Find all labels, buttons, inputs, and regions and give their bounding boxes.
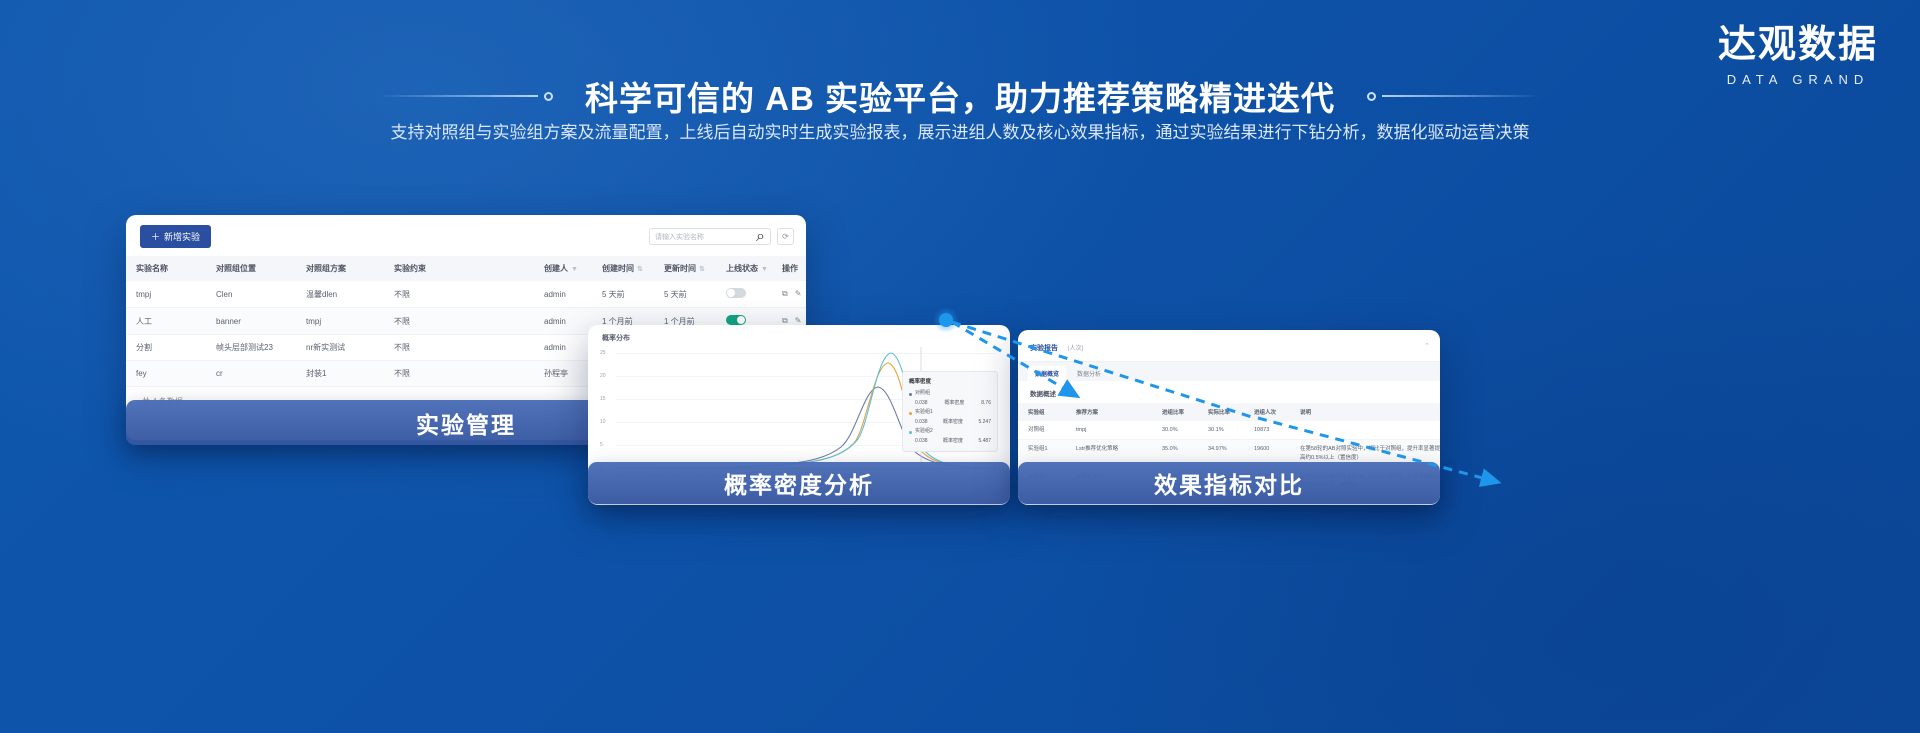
cell-creator: 孙程亭 bbox=[534, 361, 592, 387]
cell-limit: 不限 bbox=[384, 308, 534, 335]
column-header-creator[interactable]: 创建人▼ bbox=[534, 256, 592, 281]
column-header: 对照组位置 bbox=[206, 256, 296, 281]
tooltip-values: 0.038 概率密度 5.247 bbox=[909, 418, 991, 428]
chevron-up-icon[interactable]: ⌃ bbox=[1424, 342, 1430, 350]
column-header: 实际比率 bbox=[1198, 403, 1244, 421]
search-input[interactable]: 请输入实验名称 ⌕ bbox=[649, 228, 771, 245]
report-section-title: 数据概述 bbox=[1018, 381, 1440, 403]
tooltip-values: 0.038 概率密度 8.76 bbox=[909, 399, 991, 409]
cell-plan: 温馨dlen bbox=[296, 281, 384, 308]
tooltip-x: 0.038 bbox=[915, 399, 928, 409]
tab-data-analysis[interactable]: 数据分析 bbox=[1070, 366, 1108, 381]
cell-plan: nr新实测试 bbox=[296, 335, 384, 361]
tooltip-metric: 概率密度 bbox=[943, 437, 963, 447]
hotspot-pulse bbox=[933, 307, 959, 333]
report-title: 实验报告 bbox=[1030, 345, 1058, 352]
cell-position: 帧头层部测试23 bbox=[206, 335, 296, 361]
filter-icon: ▼ bbox=[761, 266, 768, 273]
cell-users: 10873 bbox=[1244, 421, 1290, 440]
plus-icon: ＋ bbox=[151, 230, 160, 243]
y-tick-label: 25 bbox=[600, 350, 606, 356]
title-row: 科学可信的 AB 实验平台，助力推荐策略精进迭代 bbox=[0, 72, 1920, 120]
column-header-created[interactable]: 创建时间⇅ bbox=[592, 256, 654, 281]
table-row[interactable]: tmpj Clen 温馨dlen 不限 admin 5 天前 5 天前 ⧉ ✎ … bbox=[126, 281, 806, 308]
tooltip-metric: 概率密度 bbox=[944, 399, 964, 409]
tooltip-x: 0.038 bbox=[915, 418, 928, 428]
search-placeholder: 请输入实验名称 bbox=[655, 232, 752, 242]
tooltip-value: 5.247 bbox=[978, 418, 991, 428]
chart-tooltip: 概率密度 对照组 0.038 概率密度 8.76 实验组1 0.038 概率密度… bbox=[902, 371, 998, 452]
column-header-updated[interactable]: 更新时间⇅ bbox=[654, 256, 716, 281]
cell-limit: 不限 bbox=[384, 335, 534, 361]
report-header: 实验报告 (人次) ⌃ bbox=[1018, 330, 1440, 362]
column-header: 说明 bbox=[1290, 403, 1440, 421]
tab-data-overview[interactable]: 数据概览 bbox=[1028, 366, 1066, 381]
cell-creator: admin bbox=[534, 308, 592, 335]
tooltip-series: 实验组2 bbox=[909, 427, 991, 437]
tooltip-series-name: 对照组 bbox=[915, 389, 930, 399]
column-header: 进组比率 bbox=[1152, 403, 1198, 421]
cell-limit: 不限 bbox=[384, 361, 534, 387]
filter-icon: ▼ bbox=[571, 266, 578, 273]
table-header-row: 实验名称 对照组位置 对照组方案 实验约束 创建人▼ 创建时间⇅ 更新时间⇅ 上… bbox=[126, 256, 806, 281]
sort-icon: ⇅ bbox=[699, 266, 705, 273]
cell-plan: tmpj bbox=[1066, 421, 1152, 440]
caption-metric-comparison: 效果指标对比 bbox=[1018, 462, 1440, 504]
tooltip-series-name: 实验组1 bbox=[915, 408, 933, 418]
column-header: 实验约束 bbox=[384, 256, 534, 281]
tooltip-series: 对照组 bbox=[909, 389, 991, 399]
brand-logo-cn: 达观数据 bbox=[1718, 26, 1878, 66]
title-decoration-right bbox=[1361, 92, 1542, 101]
table-header-row: 实验组 推荐方案 进组比率 实际比率 进组人次 说明 bbox=[1018, 403, 1440, 421]
column-header: 实验名称 bbox=[126, 256, 206, 281]
cell-position: Clen bbox=[206, 281, 296, 308]
online-toggle[interactable] bbox=[726, 288, 746, 298]
cell-name: 人工 bbox=[126, 308, 206, 335]
page-subtitle: 支持对照组与实验组方案及流量配置，上线后自动实时生成实验报表，展示进组人数及核心… bbox=[380, 118, 1540, 148]
y-tick-label: 15 bbox=[600, 396, 606, 402]
decoration-dot-left bbox=[544, 92, 553, 101]
title-decoration-left bbox=[378, 92, 559, 101]
cell-position: cr bbox=[206, 361, 296, 387]
column-header: 实验组 bbox=[1018, 403, 1066, 421]
column-header: 推荐方案 bbox=[1066, 403, 1152, 421]
cell-created: 5 天前 bbox=[592, 281, 654, 308]
cell-note bbox=[1290, 421, 1440, 440]
experiment-toolbar: ＋ 新增实验 请输入实验名称 ⌕ ⟳ bbox=[126, 215, 806, 256]
online-toggle[interactable] bbox=[726, 315, 746, 325]
cell-creator: admin bbox=[534, 281, 592, 308]
refresh-icon[interactable]: ⟳ bbox=[777, 228, 794, 245]
cell-name: fey bbox=[126, 361, 206, 387]
page-title: 科学可信的 AB 实验平台，助力推荐策略精进迭代 bbox=[585, 72, 1335, 120]
column-header: 进组人次 bbox=[1244, 403, 1290, 421]
y-tick-label: 5 bbox=[600, 442, 603, 448]
new-experiment-button[interactable]: ＋ 新增实验 bbox=[140, 225, 211, 248]
cell-creator: admin bbox=[534, 335, 592, 361]
report-tabs: 数据概览 数据分析 bbox=[1018, 362, 1440, 381]
tooltip-series: 实验组1 bbox=[909, 408, 991, 418]
column-header-ops: 操作 bbox=[772, 256, 806, 281]
table-row[interactable]: 对照组 tmpj 30.0% 30.1% 10873 bbox=[1018, 421, 1440, 440]
edit-icon[interactable]: ✎ bbox=[795, 289, 802, 299]
cell-target: 30.0% bbox=[1152, 421, 1198, 440]
tooltip-series-name: 实验组2 bbox=[915, 427, 933, 437]
cell-status bbox=[716, 281, 772, 308]
new-experiment-label: 新增实验 bbox=[164, 230, 200, 243]
cell-updated: 5 天前 bbox=[654, 281, 716, 308]
cell-name: 分割 bbox=[126, 335, 206, 361]
legend-dot-icon bbox=[909, 431, 912, 434]
cell-limit: 不限 bbox=[384, 281, 534, 308]
cell-group: 对照组 bbox=[1018, 421, 1066, 440]
tooltip-metric: 概率密度 bbox=[943, 418, 963, 428]
experiment-tools: 请输入实验名称 ⌕ ⟳ bbox=[649, 228, 794, 245]
tooltip-title: 概率密度 bbox=[909, 377, 991, 387]
search-icon: ⌕ bbox=[756, 228, 765, 246]
tooltip-values: 0.038 概率密度 5.487 bbox=[909, 437, 991, 447]
cell-position: banner bbox=[206, 308, 296, 335]
tooltip-value: 8.76 bbox=[981, 399, 991, 409]
copy-icon[interactable]: ⧉ bbox=[782, 289, 788, 299]
y-tick-label: 20 bbox=[600, 373, 606, 379]
y-tick-label: 10 bbox=[600, 419, 606, 425]
legend-dot-icon bbox=[909, 412, 912, 415]
legend-dot-icon bbox=[909, 393, 912, 396]
chart-area: 25 20 15 10 5 0 -0.008 -0.004 0.000 0.00… bbox=[600, 347, 1000, 469]
caption-density-analysis: 概率密度分析 bbox=[588, 462, 1010, 504]
column-header: 对照组方案 bbox=[296, 256, 384, 281]
cell-ops: ⧉ ✎ ⟳ 🗑 bbox=[772, 281, 806, 308]
decoration-dot-right bbox=[1367, 92, 1376, 101]
decoration-line-left bbox=[378, 95, 538, 97]
report-subtitle: (人次) bbox=[1067, 346, 1083, 352]
tooltip-value: 5.487 bbox=[978, 437, 991, 447]
column-header-status[interactable]: 上线状态▼ bbox=[716, 256, 772, 281]
cell-actual: 30.1% bbox=[1198, 421, 1244, 440]
cell-plan: tmpj bbox=[296, 308, 384, 335]
tooltip-x: 0.038 bbox=[915, 437, 928, 447]
cell-plan: 封装1 bbox=[296, 361, 384, 387]
sort-icon: ⇅ bbox=[637, 266, 643, 273]
decoration-line-right bbox=[1382, 95, 1542, 97]
cell-name: tmpj bbox=[126, 281, 206, 308]
